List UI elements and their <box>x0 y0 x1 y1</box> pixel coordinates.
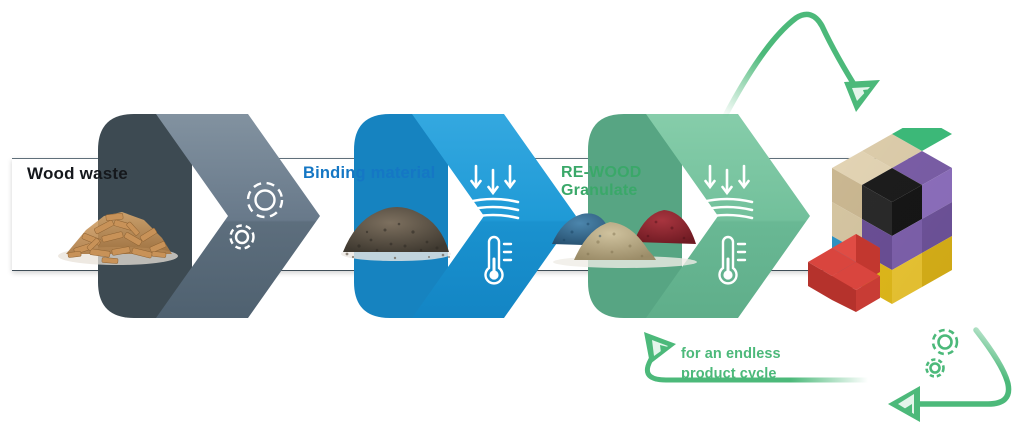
gears-icon <box>927 330 958 377</box>
stage-label-binding-material: Binding material <box>303 164 435 183</box>
stage-label-line-2: Granulate <box>561 182 642 200</box>
wooden-blocks <box>806 128 966 313</box>
cycle-caption-line-1: for an endless <box>681 345 781 365</box>
granulate-piles <box>548 198 702 268</box>
stage-label-re-wood-granulate: RE-WOOD Granulate <box>561 164 642 200</box>
stage-label-line-1: RE-WOOD <box>561 164 642 182</box>
cycle-caption: for an endless product cycle <box>681 345 781 384</box>
cycle-arrow-bottom-right <box>862 312 1024 435</box>
binder-powder-pile <box>337 196 455 262</box>
cycle-arrow-top <box>718 2 908 125</box>
cycle-caption-line-2: product cycle <box>681 365 781 385</box>
wood-chips-pile <box>52 190 182 266</box>
stage-label-wood-waste: Wood waste <box>27 164 128 183</box>
process-diagram: Wood waste Binding material RE-WOOD Gran… <box>0 0 1024 435</box>
